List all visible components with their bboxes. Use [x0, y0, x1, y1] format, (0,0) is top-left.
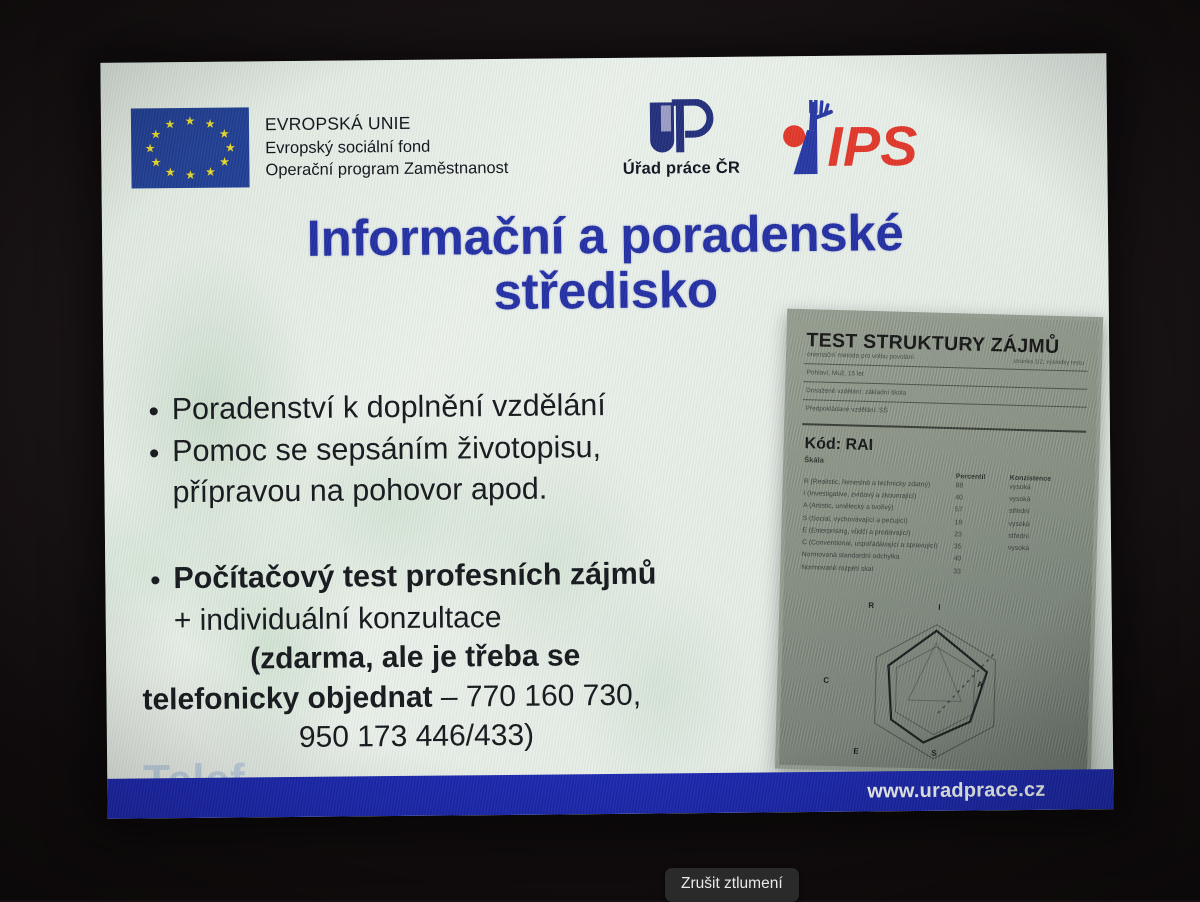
projected-slide: ★ ★ ★ ★ ★ ★ ★ ★ ★ ★ ★ ★ EVROP [100, 53, 1113, 819]
cell-scale: R (Realistic, řemeslné a technicky zdatn… [804, 479, 956, 490]
radar-label-I: I [938, 603, 940, 612]
list-item: Počítačový test profesních zájmů [141, 553, 801, 599]
cell-consistency: vysoká [1009, 485, 1079, 494]
bullet-dot-icon [150, 449, 158, 457]
test-sheet-photo: TEST STRUKTURY ZÁJMŮ orientační metoda p… [775, 309, 1103, 777]
cell-percentile: 88 [955, 483, 1009, 491]
riasec-radar-chart: R I A S E C [779, 593, 1092, 773]
page-title: Informační a poradenské středisko [122, 203, 1089, 322]
divider [802, 423, 1086, 433]
bullet-text: Pomoc se sepsáním životopisu, [172, 428, 601, 472]
bullet-dot-icon [150, 407, 158, 415]
norm-value-1: 40 [953, 553, 961, 566]
cell-scale: A (Artistic, umělecký a tvořivý) [803, 503, 955, 514]
test-sheet-meta-3: Předpokládané vzdělání: SŠ [806, 405, 888, 414]
eu-line-1: EVROPSKÁ UNIE [265, 111, 508, 137]
eu-line-2: Evropský sociální fond [265, 135, 508, 159]
radar-label-C: C [823, 676, 829, 685]
cell-consistency: střední [1008, 533, 1078, 542]
norm-label-2: Normované rozpětí skal [801, 562, 899, 578]
bullet-text: Poradenství k doplnění vzdělání [172, 386, 606, 430]
footer-url: www.uradprace.cz [867, 778, 1045, 803]
cell-percentile: 40 [955, 495, 1009, 503]
ips-raised-hand-icon: IPS [771, 99, 962, 181]
cell-scale: E (Enterprising, vůdčí a prodávající) [802, 528, 954, 539]
bullet-continuation: přípravou na pohovor apod. [140, 467, 800, 513]
slide-canvas: ★ ★ ★ ★ ★ ★ ★ ★ ★ ★ ★ ★ EVROP [100, 53, 1113, 819]
eu-line-3: Operační program Zaměstnanost [265, 157, 508, 181]
cell-consistency: vysoká [1008, 521, 1078, 530]
cell-percentile: 57 [955, 508, 1009, 516]
list-item: Pomoc se sepsáním životopisu, [140, 426, 800, 472]
urad-prace-logo-block: Úřad práce ČR [601, 99, 762, 180]
ips-logo-block: IPS [771, 98, 972, 184]
radar-label-A: A [977, 680, 983, 689]
eu-emblem-block: ★ ★ ★ ★ ★ ★ ★ ★ ★ ★ ★ ★ EVROP [131, 105, 509, 189]
unmute-button[interactable]: Zrušit ztlumení [665, 868, 799, 902]
cell-scale: S (Social, vychovávající a pečující) [803, 516, 955, 527]
eu-emblem-text: EVROPSKÁ UNIE Evropský sociální fond Ope… [265, 111, 509, 181]
test-sheet-meta-2: Dosažené vzdělání: základní škola [806, 387, 906, 397]
test-sheet-table: Percentil Konzistence R (Realistic, řeme… [802, 469, 1085, 560]
column-header-percentile: Percentil [956, 473, 1010, 481]
column-header-consistency: Konzistence [1010, 475, 1080, 484]
phone-number-1: – 770 160 730, [432, 678, 641, 713]
title-line-1: Informační a poradenské [306, 204, 903, 267]
norm-value-2: 33 [953, 566, 961, 579]
bullet-list: Poradenství k doplnění vzdělání Pomoc se… [140, 384, 801, 472]
radar-label-E: E [853, 747, 859, 756]
cell-percentile: 35 [954, 544, 1008, 552]
test-sheet-subtitle-right: stránka 1/2, výsledky testu [1013, 359, 1084, 367]
test-sheet-norm-labels: Normovaná standardní odchylka Normované … [801, 549, 900, 577]
test-sheet-scale-label: Škála [804, 455, 824, 465]
cell-percentile: 19 [954, 520, 1008, 528]
bullet-dot-icon [151, 576, 159, 584]
urad-prace-monogram-icon [642, 99, 721, 158]
bold-bullet-heading: Počítačový test profesních zájmů [173, 554, 656, 598]
cell-percentile: 23 [954, 532, 1008, 540]
bold-bullet-line-phone: telefonicky objednat – 770 160 730, [142, 674, 802, 720]
bold-bullet-group: Počítačový test profesních zájmů + indiv… [141, 553, 803, 759]
eu-flag-icon: ★ ★ ★ ★ ★ ★ ★ ★ ★ ★ ★ ★ [131, 107, 250, 188]
phone-order-label: telefonicky objednat [142, 680, 432, 716]
cell-scale: I (Investigative, zvídavý a zkoumající) [803, 491, 955, 502]
test-sheet-meta-1: Pohlaví, Muž, 15 let [806, 369, 863, 378]
bold-bullet-line-plus: + individuální konzultace [142, 595, 802, 641]
phone-number-2: 950 173 446/433) [143, 713, 803, 759]
svg-text:IPS: IPS [827, 114, 918, 178]
slide-body: Poradenství k doplnění vzdělání Pomoc se… [140, 384, 804, 759]
cell-consistency: vysoká [1009, 497, 1079, 506]
cell-consistency: vysoká [1008, 546, 1078, 555]
test-sheet-document: TEST STRUKTURY ZÁJMŮ orientační metoda p… [779, 313, 1099, 773]
radar-label-R: R [868, 601, 874, 610]
test-sheet-norm-values: 40 33 [953, 553, 961, 579]
radar-label-S: S [931, 749, 937, 758]
test-sheet-subtitle: orientační metoda pro volbu povolání [807, 351, 914, 361]
slide-header: ★ ★ ★ ★ ★ ★ ★ ★ ★ ★ ★ ★ EVROP [131, 95, 1084, 200]
urad-prace-label: Úřad práce ČR [601, 159, 761, 180]
test-sheet-code: Kód: RAI [804, 435, 873, 455]
list-item: Poradenství k doplnění vzdělání [140, 384, 800, 430]
cell-consistency: střední [1009, 509, 1079, 518]
bold-bullet-line-paren: (zdarma, ale je třeba se [142, 634, 802, 680]
